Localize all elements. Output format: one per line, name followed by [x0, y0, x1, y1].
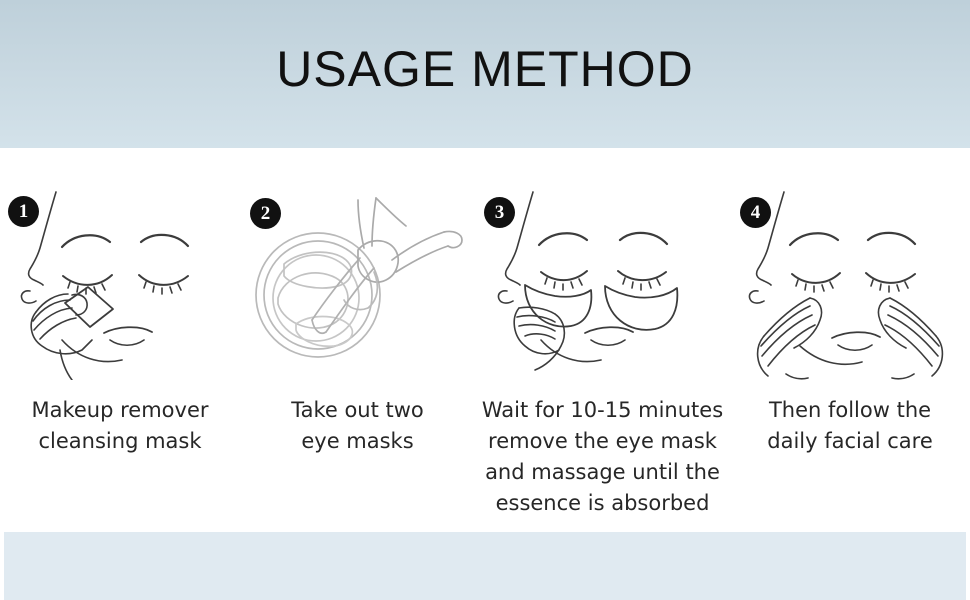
- caption-line: eye masks: [240, 426, 475, 457]
- step-number-badge: 2: [250, 198, 281, 229]
- step-number-badge: 3: [484, 197, 515, 228]
- footer-right-margin: [966, 532, 970, 600]
- step-3: 3: [475, 148, 730, 530]
- step-1: 1: [0, 148, 240, 530]
- caption-line: Makeup remover: [0, 395, 240, 426]
- step-caption: Wait for 10-15 minutes remove the eye ma…: [475, 395, 730, 519]
- header-band: USAGE METHOD: [0, 0, 970, 148]
- caption-line: daily facial care: [730, 426, 970, 457]
- step-caption: Then follow the daily facial care: [730, 395, 970, 457]
- step-2: 2: [240, 148, 475, 530]
- footer-band: [0, 532, 970, 600]
- caption-line: essence is absorbed: [475, 488, 730, 519]
- caption-line: Then follow the: [730, 395, 970, 426]
- caption-line: Take out two: [240, 395, 475, 426]
- step-caption: Makeup remover cleansing mask: [0, 395, 240, 457]
- page-title: USAGE METHOD: [0, 40, 970, 98]
- step-4: 4: [730, 148, 970, 530]
- step-caption: Take out two eye masks: [240, 395, 475, 457]
- step-number-badge: 4: [740, 197, 771, 228]
- steps-row: 1: [0, 148, 970, 530]
- caption-line: and massage until the: [475, 457, 730, 488]
- caption-line: cleansing mask: [0, 426, 240, 457]
- usage-method-infographic: USAGE METHOD 1: [0, 0, 970, 600]
- caption-line: remove the eye mask: [475, 426, 730, 457]
- caption-line: Wait for 10-15 minutes: [475, 395, 730, 426]
- step-number-badge: 1: [8, 196, 39, 227]
- footer-left-margin: [0, 532, 4, 600]
